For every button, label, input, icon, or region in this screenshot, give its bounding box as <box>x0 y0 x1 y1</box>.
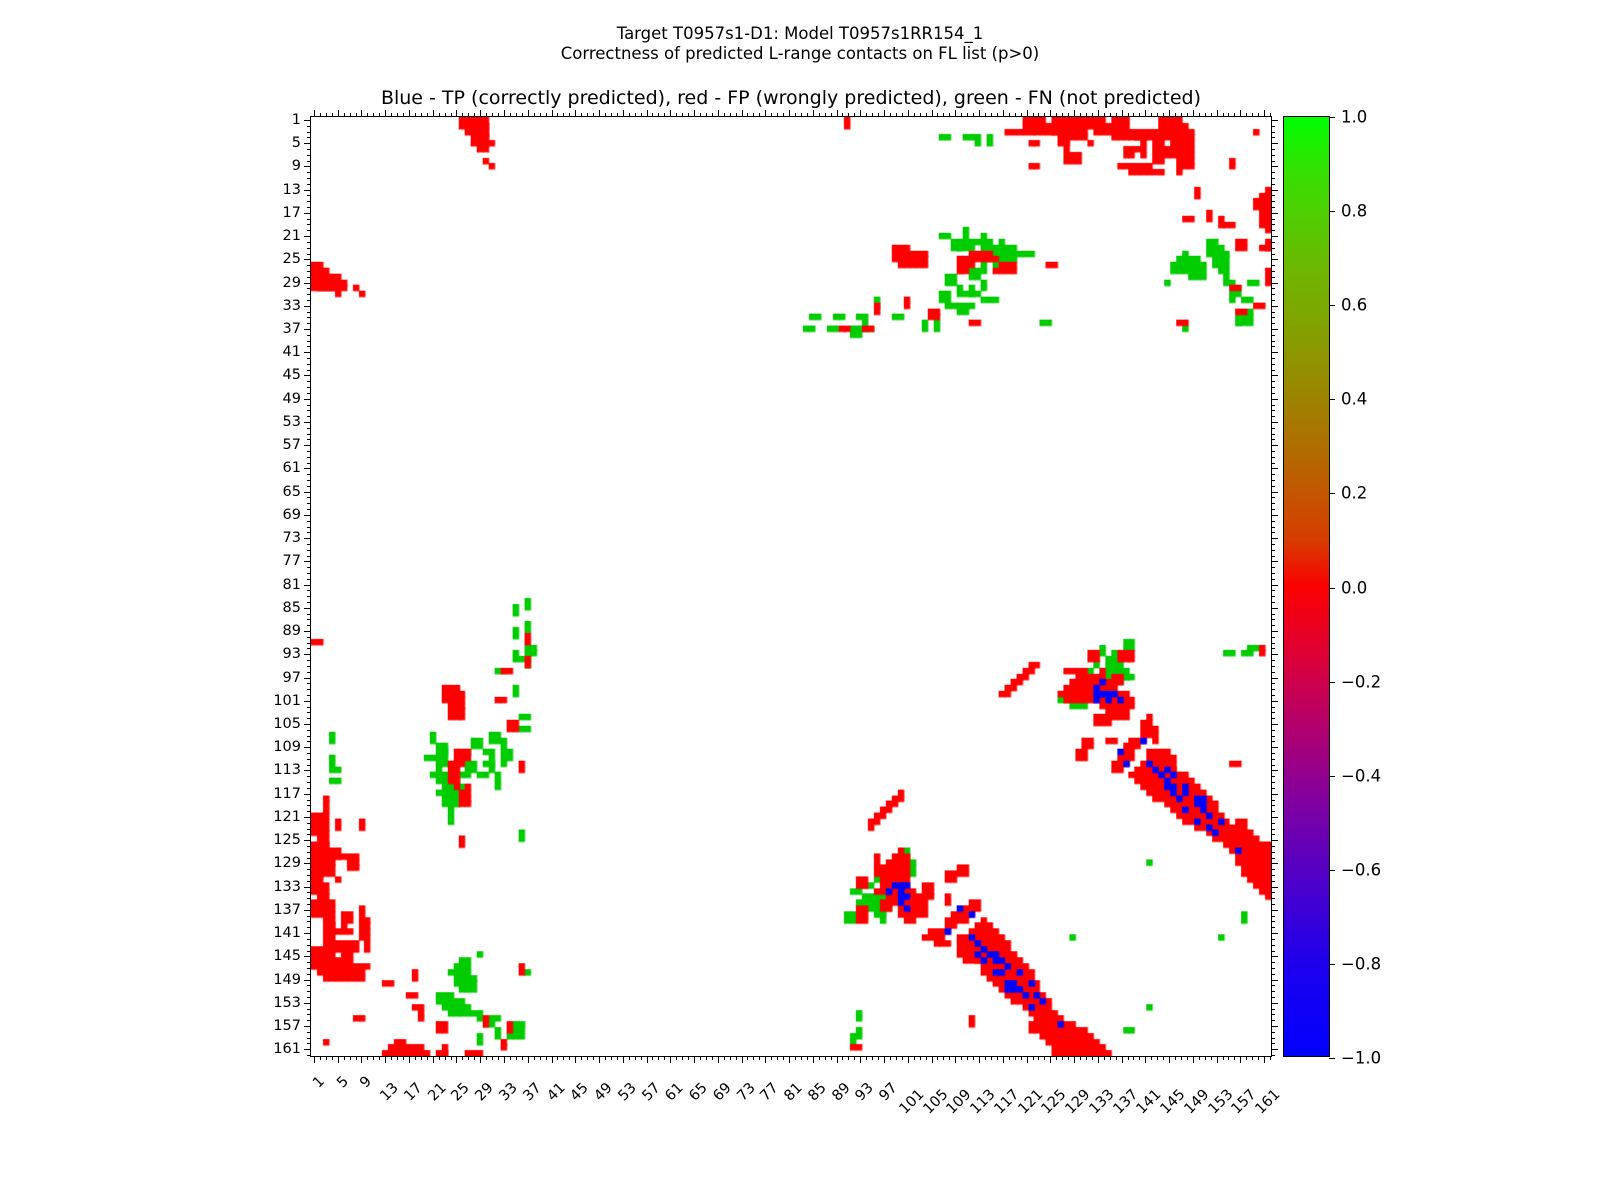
x-tick-label: 77 <box>758 1080 782 1104</box>
y-tick-right <box>1271 980 1278 981</box>
y-tick-right <box>1271 765 1275 766</box>
y-tick-right <box>1271 306 1278 307</box>
x-tick <box>599 1056 600 1063</box>
x-tick-top <box>332 113 333 117</box>
y-tick <box>307 753 311 754</box>
y-tick <box>307 707 311 708</box>
y-tick-label: 57 <box>283 437 301 453</box>
x-tick-top <box>1223 113 1224 117</box>
y-tick-right <box>1271 242 1275 243</box>
y-tick-right <box>1271 538 1278 539</box>
y-tick-right <box>1271 800 1275 801</box>
x-tick-top <box>1128 113 1129 117</box>
x-tick-top <box>658 113 659 117</box>
x-tick-top <box>367 113 368 117</box>
y-tick <box>307 527 311 528</box>
y-tick <box>307 277 311 278</box>
y-tick <box>304 887 311 888</box>
y-tick-right <box>1271 207 1275 208</box>
y-tick <box>304 840 311 841</box>
x-tick-label: 49 <box>591 1080 615 1104</box>
x-tick-top <box>1116 113 1117 117</box>
y-tick <box>304 910 311 911</box>
x-tick-top <box>985 113 986 117</box>
y-tick-right <box>1271 852 1275 853</box>
x-tick-top <box>1139 113 1140 117</box>
y-tick-label: 33 <box>283 298 301 314</box>
y-tick <box>307 451 311 452</box>
x-tick-top <box>350 113 351 117</box>
y-tick <box>307 497 311 498</box>
y-tick-right <box>1271 358 1275 359</box>
x-tick-label-text: 33 <box>496 1080 520 1104</box>
x-tick <box>872 1056 873 1060</box>
y-tick <box>307 294 311 295</box>
y-tick-right <box>1271 625 1275 626</box>
x-tick-top <box>1228 113 1229 117</box>
y-tick <box>307 788 311 789</box>
y-tick <box>307 463 311 464</box>
y-tick <box>307 602 311 603</box>
y-tick-right <box>1271 939 1275 940</box>
y-tick <box>304 515 311 516</box>
y-tick-right <box>1271 294 1275 295</box>
y-tick-label: 77 <box>283 553 301 569</box>
x-tick-top <box>759 113 760 117</box>
y-tick <box>307 155 311 156</box>
contact-map-matrix[interactable] <box>311 117 1271 1056</box>
y-tick <box>307 869 311 870</box>
y-tick-right <box>1271 846 1275 847</box>
y-tick <box>307 858 311 859</box>
x-tick-top <box>1009 113 1010 117</box>
y-tick-label: 89 <box>283 623 301 639</box>
x-tick <box>1098 1056 1099 1063</box>
colorbar-tick-label: 0.8 <box>1341 202 1367 221</box>
x-tick-label: 1 <box>310 1074 328 1092</box>
x-tick <box>1205 1056 1206 1060</box>
x-tick-label: 45 <box>568 1080 592 1104</box>
y-tick <box>307 474 311 475</box>
x-tick <box>718 1056 719 1063</box>
y-tick-right <box>1271 387 1275 388</box>
x-tick-label-text: 97 <box>876 1080 900 1104</box>
x-tick <box>635 1056 636 1060</box>
x-tick-label-text: 89 <box>829 1080 853 1104</box>
x-tick <box>1175 1056 1176 1060</box>
x-tick <box>706 1056 707 1060</box>
y-tick <box>307 579 311 580</box>
x-tick-top <box>932 110 933 117</box>
x-tick <box>997 1056 998 1060</box>
x-tick-top <box>1199 113 1200 117</box>
x-tick-top <box>569 113 570 117</box>
colorbar[interactable]: 1.00.80.60.40.20.0−0.2−0.4−0.6−0.8−1.0 <box>1283 116 1330 1057</box>
y-tick-right <box>1271 329 1278 330</box>
y-tick <box>307 201 311 202</box>
y-tick <box>307 312 311 313</box>
x-tick <box>1027 1056 1028 1063</box>
y-tick <box>307 962 311 963</box>
y-tick-right <box>1271 439 1275 440</box>
x-tick-top <box>664 113 665 117</box>
x-tick-top <box>860 110 861 117</box>
y-tick-right <box>1271 434 1275 435</box>
y-tick <box>307 1009 311 1010</box>
x-tick-top <box>890 113 891 117</box>
x-tick <box>1062 1056 1063 1060</box>
x-tick <box>973 1056 974 1060</box>
y-tick <box>307 904 311 905</box>
x-tick-top <box>338 110 339 117</box>
x-tick-top <box>736 113 737 117</box>
x-tick-top <box>492 113 493 117</box>
y-tick-right <box>1271 161 1275 162</box>
x-tick-top <box>385 110 386 117</box>
y-tick-right <box>1271 648 1275 649</box>
y-tick-right <box>1271 997 1275 998</box>
y-tick-right <box>1271 614 1275 615</box>
x-tick <box>670 1056 671 1063</box>
y-tick <box>307 288 311 289</box>
y-tick <box>307 434 311 435</box>
y-tick <box>307 224 311 225</box>
x-tick-top <box>575 110 576 117</box>
x-tick <box>753 1056 754 1060</box>
y-tick-right <box>1271 422 1278 423</box>
x-tick <box>1199 1056 1200 1060</box>
colorbar-tick <box>1329 117 1335 118</box>
x-tick-top <box>557 113 558 117</box>
x-tick <box>926 1056 927 1060</box>
x-tick-top <box>552 110 553 117</box>
y-tick <box>307 945 311 946</box>
y-tick <box>307 782 311 783</box>
colorbar-tick-label: 0.6 <box>1341 296 1367 315</box>
x-tick <box>730 1056 731 1060</box>
x-tick-label: 57 <box>639 1080 663 1104</box>
y-tick-right <box>1271 312 1275 313</box>
x-tick <box>652 1056 653 1060</box>
x-tick <box>1234 1056 1235 1060</box>
x-tick <box>379 1056 380 1060</box>
y-tick-right <box>1271 678 1278 679</box>
y-tick <box>304 631 311 632</box>
x-tick-top <box>652 113 653 117</box>
x-tick <box>456 1056 457 1063</box>
y-tick <box>304 306 311 307</box>
x-tick-label: 101 <box>896 1087 927 1118</box>
x-tick <box>504 1056 505 1063</box>
colorbar-tick <box>1329 870 1335 871</box>
y-tick-right <box>1271 951 1275 952</box>
y-tick <box>307 317 311 318</box>
y-tick-right <box>1271 672 1275 673</box>
x-tick <box>896 1056 897 1060</box>
colorbar-tick <box>1329 682 1335 683</box>
x-tick-top <box>462 113 463 117</box>
x-tick <box>979 1056 980 1063</box>
x-tick <box>943 1056 944 1060</box>
y-tick <box>307 387 311 388</box>
y-tick-right <box>1271 1003 1278 1004</box>
y-tick <box>307 254 311 255</box>
y-tick <box>307 881 311 882</box>
y-tick-right <box>1271 770 1278 771</box>
x-tick <box>1133 1056 1134 1060</box>
x-tick <box>1169 1056 1170 1063</box>
x-tick-label: 117 <box>991 1087 1022 1118</box>
contact-map-plot[interactable]: 1591317212529333741454953576165697377818… <box>310 116 1272 1057</box>
x-tick <box>385 1056 386 1063</box>
x-tick <box>332 1056 333 1060</box>
x-tick <box>1228 1056 1229 1060</box>
y-tick-label: 97 <box>283 670 301 686</box>
y-tick <box>307 480 311 481</box>
x-tick-top <box>433 110 434 117</box>
x-tick-top <box>439 113 440 117</box>
x-tick-top <box>379 113 380 117</box>
y-tick-label: 101 <box>273 693 301 709</box>
x-tick <box>641 1056 642 1060</box>
y-tick <box>304 259 311 260</box>
y-tick <box>307 172 311 173</box>
x-tick <box>451 1056 452 1060</box>
x-tick <box>468 1056 469 1060</box>
y-tick-right <box>1271 120 1278 121</box>
x-tick-top <box>373 113 374 117</box>
y-tick-right <box>1271 544 1275 545</box>
x-tick-top <box>605 113 606 117</box>
x-tick <box>825 1056 826 1060</box>
x-tick <box>629 1056 630 1060</box>
y-tick <box>307 765 311 766</box>
y-tick-right <box>1271 956 1278 957</box>
y-tick <box>307 974 311 975</box>
y-tick-label: 153 <box>273 995 301 1011</box>
x-tick-top <box>1050 110 1051 117</box>
x-tick <box>1157 1056 1158 1060</box>
x-tick <box>1145 1056 1146 1063</box>
y-tick-label: 9 <box>292 158 301 174</box>
y-tick-right <box>1271 567 1275 568</box>
x-tick-top <box>409 110 410 117</box>
x-tick-label: 9 <box>358 1074 376 1092</box>
x-tick <box>1151 1056 1152 1060</box>
y-tick <box>307 271 311 272</box>
y-tick <box>307 486 311 487</box>
x-tick <box>1187 1056 1188 1060</box>
y-tick-label: 145 <box>273 948 301 964</box>
x-tick <box>1258 1056 1259 1060</box>
x-tick-top <box>623 110 624 117</box>
x-tick-top <box>878 113 879 117</box>
y-tick <box>304 678 311 679</box>
y-tick <box>307 921 311 922</box>
x-tick <box>563 1056 564 1060</box>
y-tick <box>307 126 311 127</box>
y-tick <box>304 863 311 864</box>
x-tick-top <box>1270 113 1271 117</box>
y-tick <box>307 184 311 185</box>
y-tick <box>304 724 311 725</box>
y-tick-right <box>1271 579 1275 580</box>
x-tick-top <box>1122 110 1123 117</box>
colorbar-tick <box>1329 588 1335 589</box>
x-tick-label-text: 17 <box>401 1080 425 1104</box>
y-tick <box>304 492 311 493</box>
y-tick-right <box>1271 381 1275 382</box>
x-tick-label: 161 <box>1253 1087 1284 1118</box>
x-tick <box>1246 1056 1247 1060</box>
y-tick <box>307 503 311 504</box>
x-tick-top <box>1074 110 1075 117</box>
x-tick <box>1128 1056 1129 1060</box>
y-tick-label: 133 <box>273 879 301 895</box>
y-tick <box>307 892 311 893</box>
y-tick <box>304 352 311 353</box>
y-tick <box>307 416 311 417</box>
y-tick-right <box>1271 637 1275 638</box>
colorbar-tick-label: −0.6 <box>1341 860 1381 879</box>
y-tick-right <box>1271 643 1275 644</box>
y-tick-right <box>1271 219 1275 220</box>
x-tick <box>534 1056 535 1060</box>
x-tick-label-text: 53 <box>615 1080 639 1104</box>
colorbar-tick-label: 0.4 <box>1341 390 1367 409</box>
x-tick <box>498 1056 499 1060</box>
y-tick <box>307 323 311 324</box>
y-tick <box>307 573 311 574</box>
y-tick-right <box>1271 259 1278 260</box>
y-tick-label: 73 <box>283 530 301 546</box>
x-tick-label-text: 9 <box>358 1074 376 1092</box>
colorbar-tick-label: −0.4 <box>1341 766 1381 785</box>
y-tick <box>304 143 311 144</box>
y-tick <box>307 823 311 824</box>
x-tick-label: 17 <box>401 1080 425 1104</box>
x-tick-top <box>356 113 357 117</box>
y-tick <box>304 236 311 237</box>
y-tick <box>304 213 311 214</box>
x-tick-top <box>801 113 802 117</box>
y-tick-right <box>1271 619 1275 620</box>
y-tick <box>307 939 311 940</box>
x-tick-top <box>1211 113 1212 117</box>
x-tick <box>783 1056 784 1060</box>
x-tick-top <box>896 113 897 117</box>
x-tick-top <box>1205 113 1206 117</box>
x-tick <box>1056 1056 1057 1060</box>
y-tick <box>307 300 311 301</box>
x-tick <box>326 1056 327 1060</box>
y-tick <box>307 834 311 835</box>
y-tick-label: 13 <box>283 182 301 198</box>
x-tick <box>314 1056 315 1063</box>
x-tick-label-text: 41 <box>544 1080 568 1104</box>
y-tick-label: 85 <box>283 600 301 616</box>
x-tick <box>575 1056 576 1063</box>
x-tick-label: 73 <box>734 1080 758 1104</box>
x-tick-label: 53 <box>615 1080 639 1104</box>
x-tick <box>1211 1056 1212 1060</box>
x-tick-top <box>1151 113 1152 117</box>
colorbar-tick <box>1329 399 1335 400</box>
y-tick <box>307 410 311 411</box>
y-tick <box>304 1049 311 1050</box>
x-tick <box>955 1056 956 1063</box>
x-tick <box>795 1056 796 1060</box>
x-tick-top <box>1258 113 1259 117</box>
y-tick-right <box>1271 265 1275 266</box>
x-tick-label-text: 81 <box>781 1080 805 1104</box>
x-tick <box>367 1056 368 1060</box>
x-tick <box>688 1056 689 1060</box>
x-tick-label-text: 101 <box>896 1087 927 1118</box>
figure-suptitle-line2: Correctness of predicted L-range contact… <box>0 42 1600 65</box>
x-tick-top <box>546 113 547 117</box>
y-tick-right <box>1271 352 1278 353</box>
y-tick-right <box>1271 985 1275 986</box>
y-tick-right <box>1271 654 1278 655</box>
y-tick <box>307 951 311 952</box>
y-tick-right <box>1271 898 1275 899</box>
y-tick <box>307 1038 311 1039</box>
x-tick <box>813 1056 814 1063</box>
x-tick-top <box>724 113 725 117</box>
y-tick-label: 93 <box>283 646 301 662</box>
x-tick-top <box>700 113 701 117</box>
x-tick <box>1270 1056 1271 1060</box>
y-tick <box>307 829 311 830</box>
x-tick <box>742 1056 743 1063</box>
x-tick <box>937 1056 938 1060</box>
x-tick-label: 85 <box>805 1080 829 1104</box>
y-tick <box>307 544 311 545</box>
x-tick <box>617 1056 618 1060</box>
y-tick-label: 69 <box>283 507 301 523</box>
x-tick <box>433 1056 434 1063</box>
x-tick <box>765 1056 766 1063</box>
x-tick-top <box>629 113 630 117</box>
x-tick-label-text: 1 <box>310 1074 328 1092</box>
y-tick-right <box>1271 689 1275 690</box>
x-tick-label-text: 45 <box>568 1080 592 1104</box>
x-tick <box>403 1056 404 1060</box>
y-tick-right <box>1271 968 1275 969</box>
x-tick <box>581 1056 582 1060</box>
y-tick <box>304 166 311 167</box>
x-tick <box>890 1056 891 1060</box>
y-tick-right <box>1271 1043 1275 1044</box>
y-tick <box>304 399 311 400</box>
x-tick <box>902 1056 903 1060</box>
y-tick <box>307 985 311 986</box>
y-tick <box>307 736 311 737</box>
y-tick-right <box>1271 776 1275 777</box>
y-tick <box>307 248 311 249</box>
y-tick <box>307 916 311 917</box>
x-tick <box>920 1056 921 1060</box>
x-tick-label: 65 <box>686 1080 710 1104</box>
colorbar-tick <box>1329 305 1335 306</box>
y-tick-right <box>1271 945 1275 946</box>
x-tick-top <box>937 113 938 117</box>
y-tick <box>307 370 311 371</box>
x-tick-top <box>1015 113 1016 117</box>
y-tick <box>307 637 311 638</box>
y-tick-right <box>1271 829 1275 830</box>
